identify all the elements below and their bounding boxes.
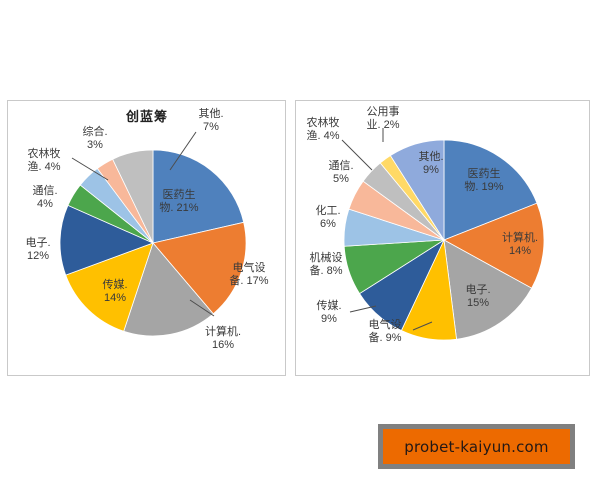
pie-slice-label: 化工. 6% [306,205,350,231]
pie-slice-label: 传媒. 9% [306,300,352,326]
pie-slice-label: 电子. 15% [455,284,501,310]
pie-slice-label: 通信. 5% [318,160,364,186]
pie-slice-label: 计算机. 14% [492,232,548,258]
pie-slice-label: 机械设 备. 8% [299,252,353,278]
pie-slice-label: 公用事 业. 2% [356,106,410,132]
pie-slice-label: 电气设 备. 9% [358,319,412,345]
watermark-inner: probet-kaiyun.com [383,429,570,464]
pie-slice-label: 农林牧 渔. 4% [297,117,349,143]
watermark-text: probet-kaiyun.com [404,438,548,456]
watermark-banner: probet-kaiyun.com [378,424,575,469]
pie-slice-label: 其他. 9% [408,151,454,177]
pie-slice-label: 医药生 物. 19% [455,168,513,194]
